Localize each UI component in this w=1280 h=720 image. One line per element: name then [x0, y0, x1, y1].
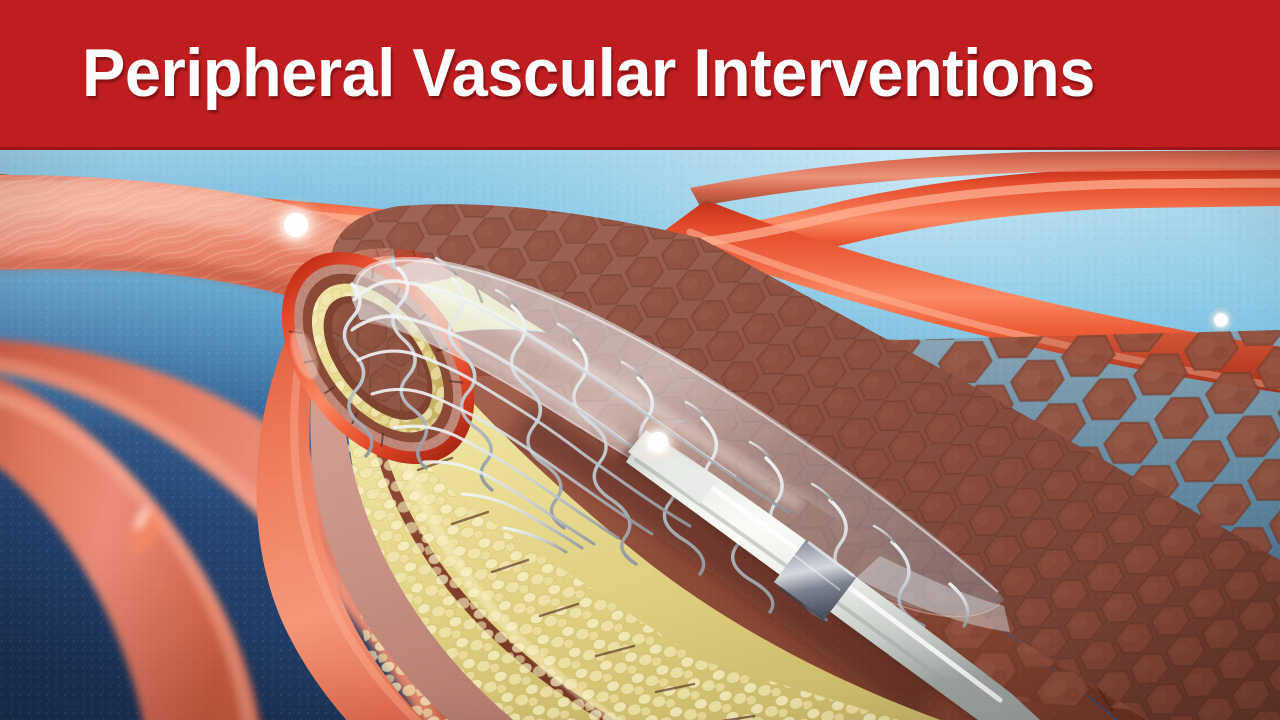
title-banner: Peripheral Vascular Interventions [0, 0, 1280, 150]
screenshot-canvas: Peripheral Vascular Interventions [0, 0, 1280, 720]
page-title: Peripheral Vascular Interventions [82, 39, 1095, 107]
